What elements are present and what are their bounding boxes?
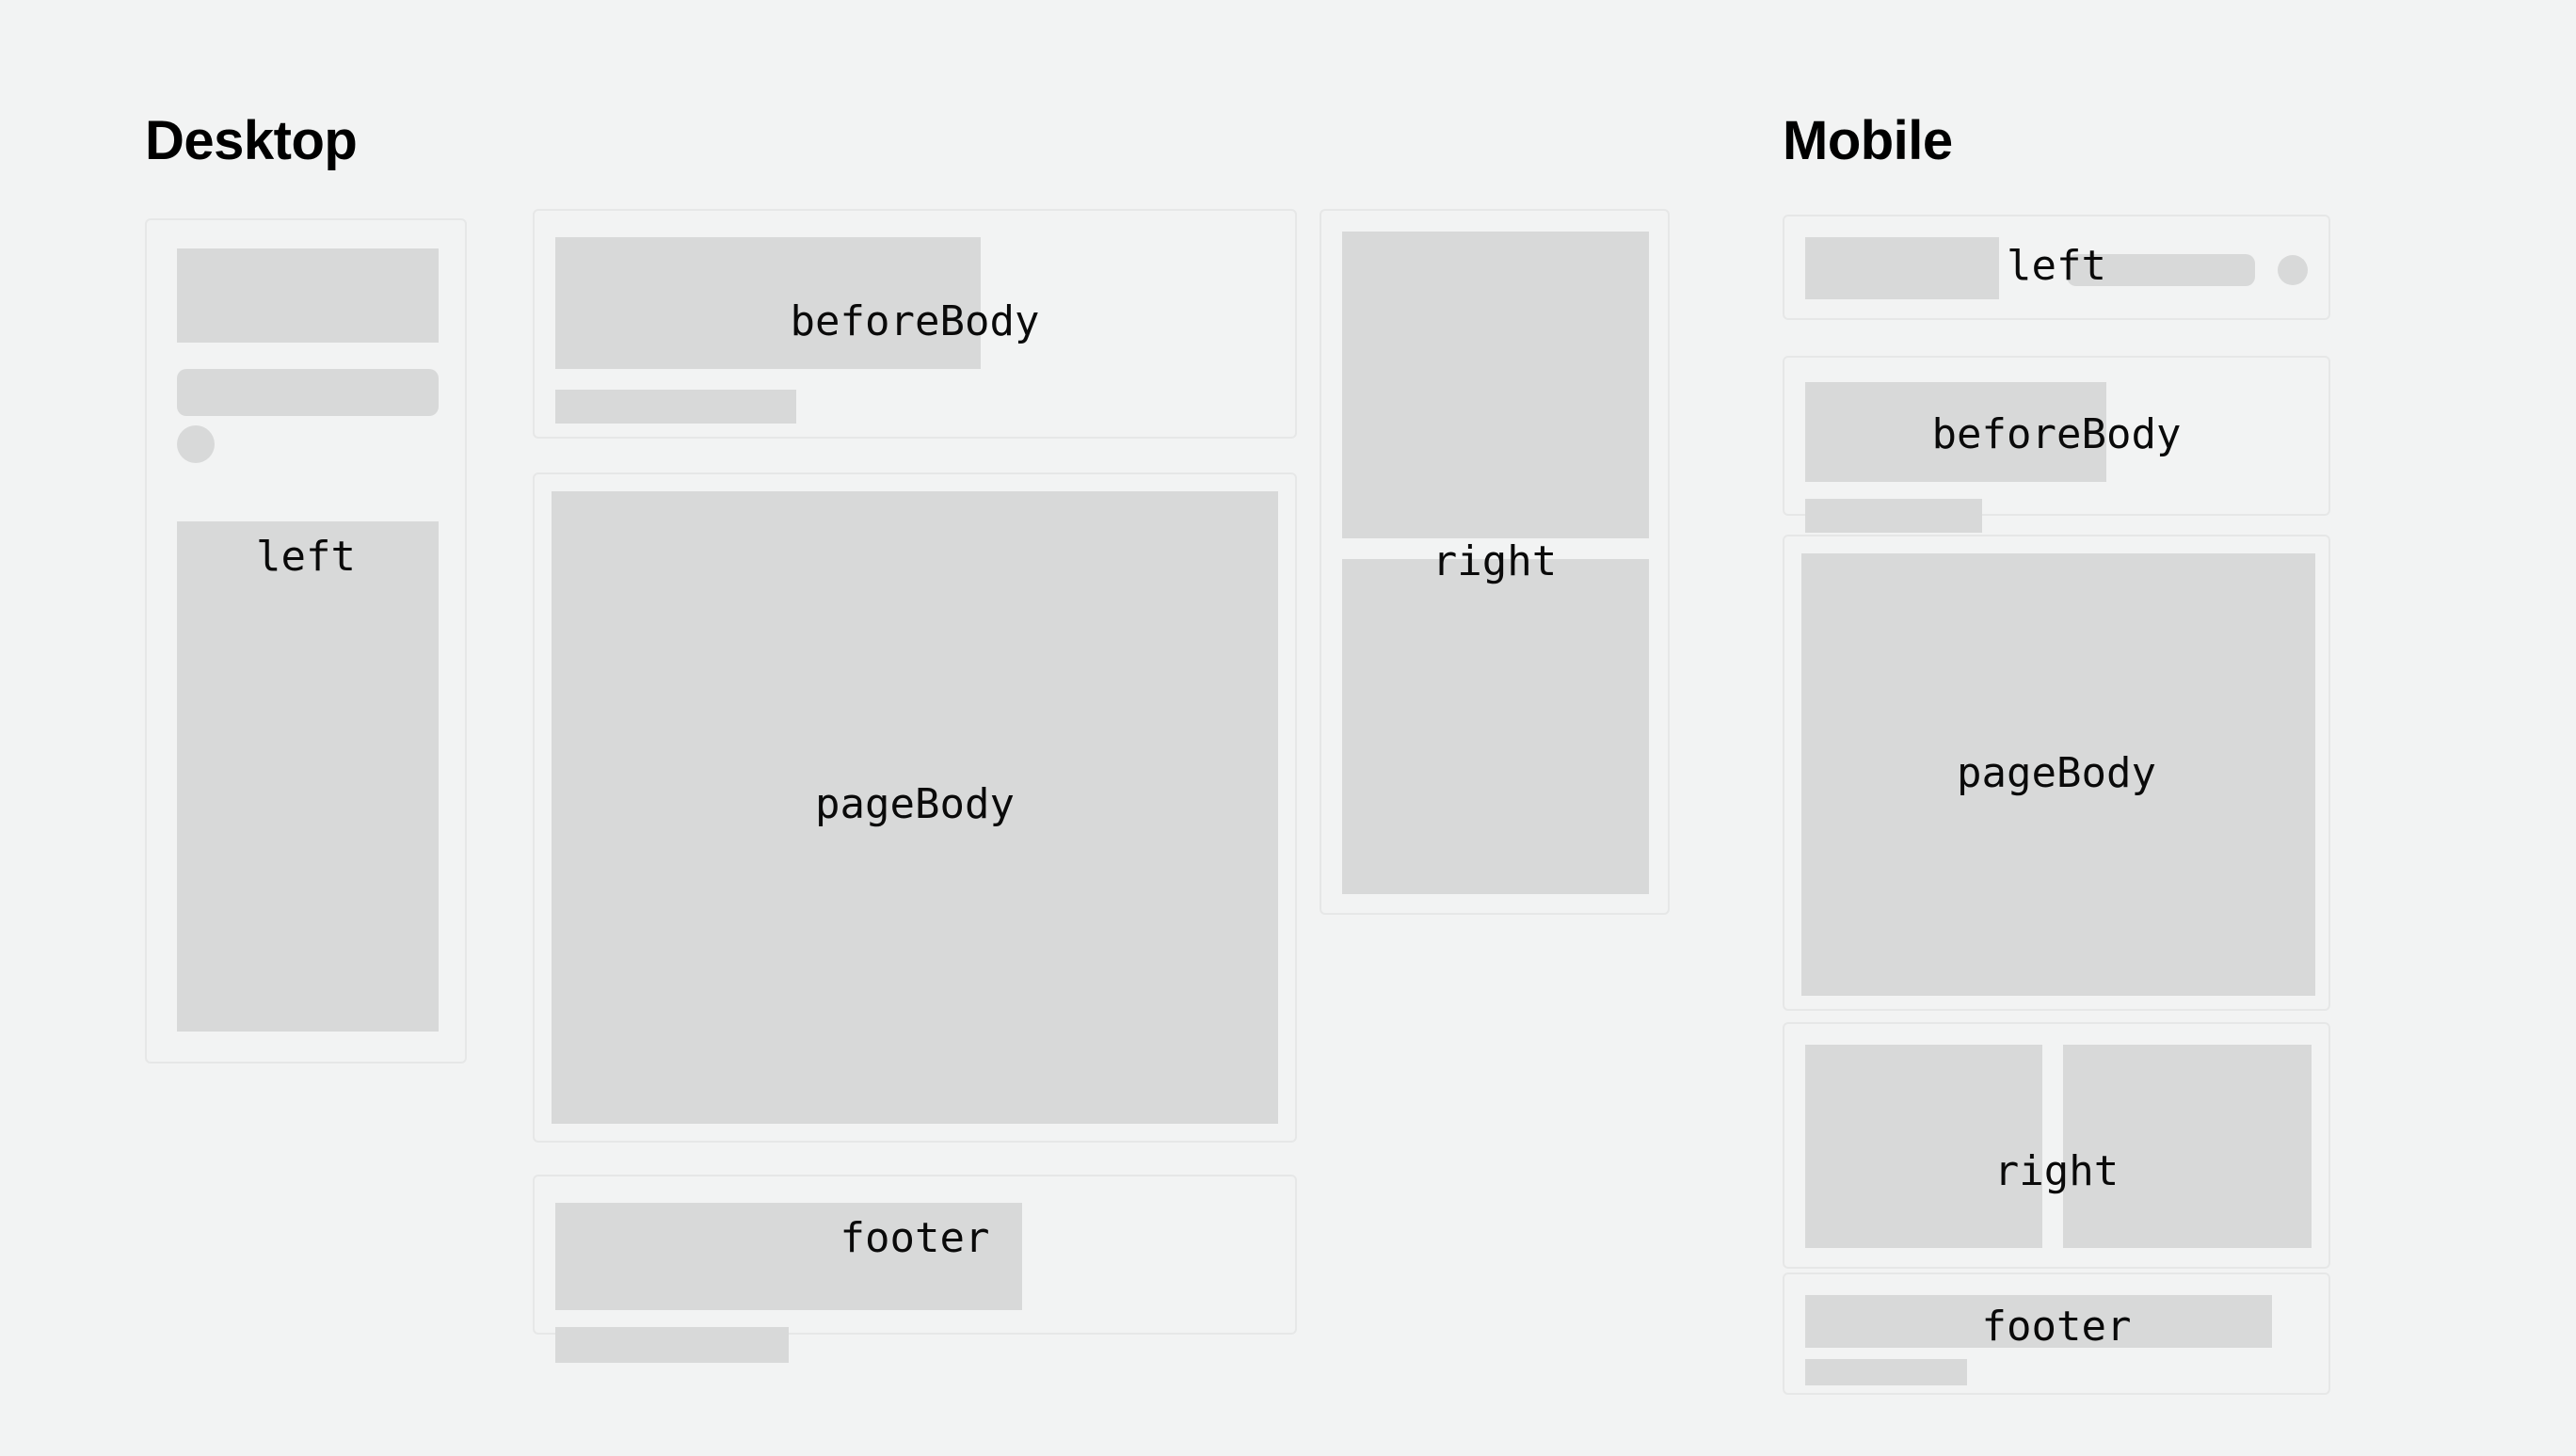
skeleton-block-footer-primary — [1805, 1295, 2272, 1348]
skeleton-block-content — [1801, 553, 2315, 996]
desktop-left-panel[interactable] — [145, 218, 467, 1064]
skeleton-bar — [177, 369, 439, 416]
skeleton-block-right — [2063, 1045, 2312, 1248]
page-title-desktop: Desktop — [145, 114, 357, 168]
skeleton-avatar-circle — [177, 425, 215, 463]
skeleton-bar-footer-secondary — [1805, 1359, 1967, 1385]
skeleton-bar-secondary — [555, 390, 796, 424]
skeleton-block-left — [1805, 1045, 2042, 1248]
mobile-pagebody-panel[interactable] — [1783, 535, 2330, 1011]
mobile-right-panel[interactable] — [1783, 1022, 2330, 1269]
skeleton-block-content — [552, 491, 1278, 1124]
skeleton-bar-secondary — [1805, 499, 1982, 533]
mobile-footer-panel[interactable] — [1783, 1272, 2330, 1395]
skeleton-block-primary — [1805, 382, 2106, 482]
skeleton-block-bottom — [1342, 559, 1649, 894]
skeleton-avatar-circle — [2278, 255, 2308, 285]
desktop-right-panel[interactable] — [1320, 209, 1670, 915]
skeleton-block-primary — [555, 237, 981, 369]
skeleton-block-header — [177, 248, 439, 343]
skeleton-block-footer-primary — [555, 1203, 1022, 1310]
desktop-pagebody-panel[interactable] — [533, 472, 1297, 1143]
page-title-mobile: Mobile — [1783, 114, 1953, 168]
mobile-beforebody-panel[interactable] — [1783, 356, 2330, 516]
skeleton-block-top — [1342, 232, 1649, 538]
mobile-left-panel[interactable] — [1783, 215, 2330, 320]
skeleton-bar — [2067, 254, 2255, 286]
desktop-footer-panel[interactable] — [533, 1175, 1297, 1335]
skeleton-block-header — [1805, 237, 1999, 299]
skeleton-bar-footer-secondary — [555, 1327, 789, 1363]
skeleton-block-body — [177, 521, 439, 1032]
desktop-beforebody-panel[interactable] — [533, 209, 1297, 439]
